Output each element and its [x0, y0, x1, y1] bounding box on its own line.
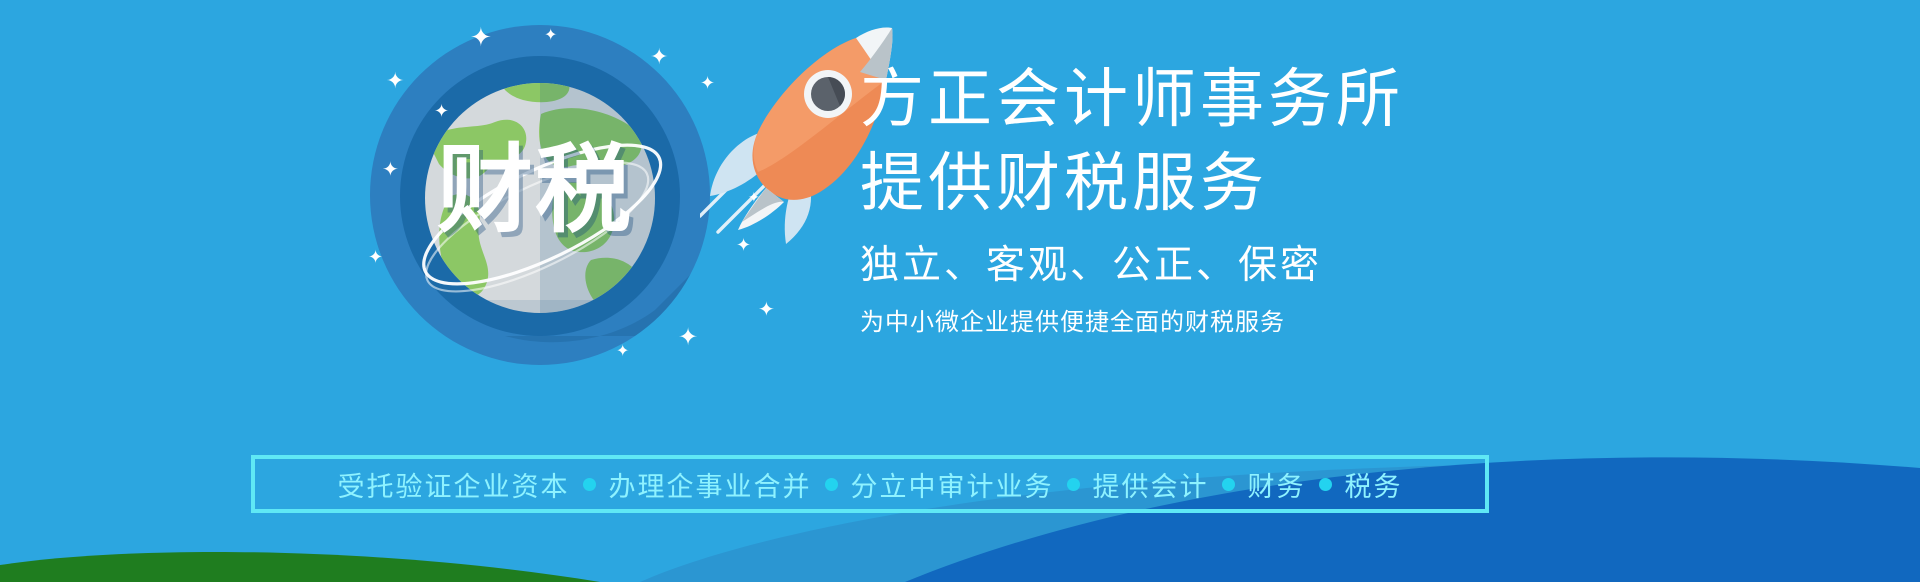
- sparkle-star: ✦: [368, 248, 383, 266]
- sparkle-star: ✦: [616, 344, 629, 360]
- sparkle-star: ✦: [470, 24, 492, 50]
- sparkle-star: ✦: [434, 102, 449, 120]
- services-separator-dot: [1319, 478, 1332, 491]
- headline-line-2: 提供财税服务: [860, 144, 1580, 224]
- tagline: 为中小微企业提供便捷全面的财税服务: [860, 306, 1580, 338]
- services-separator-dot: [1222, 478, 1235, 491]
- headline-line-1: 方正会计师事务所: [860, 60, 1580, 140]
- headline-block: 方正会计师事务所 提供财税服务 独立、客观、公正、保密 为中小微企业提供便捷全面…: [860, 60, 1580, 338]
- subheadline: 独立、客观、公正、保密: [860, 240, 1580, 292]
- services-list: 受托验证企业资本办理企事业合并分立中审计业务提供会计财务税务: [338, 465, 1403, 504]
- globe-graphic: [355, 10, 725, 380]
- service-item: 财务: [1248, 465, 1306, 504]
- sparkle-star: ✦: [544, 28, 557, 44]
- service-item: 税务: [1345, 465, 1403, 504]
- service-item: 提供会计: [1093, 465, 1209, 504]
- services-bar: 受托验证企业资本办理企事业合并分立中审计业务提供会计财务税务: [251, 455, 1489, 513]
- services-separator-dot: [583, 478, 596, 491]
- sparkle-star: ✦: [700, 74, 715, 92]
- sparkle-star: ✦: [736, 236, 751, 254]
- services-separator-dot: [825, 478, 838, 491]
- service-item: 受托验证企业资本: [338, 465, 570, 504]
- service-item: 办理企事业合并: [609, 465, 812, 504]
- sparkle-star: ✦: [386, 70, 404, 92]
- promo-banner: 财税 ✦: [0, 0, 1920, 582]
- sparkle-star: ✦: [748, 190, 760, 204]
- globe-icon: [355, 10, 725, 380]
- sparkle-star: ✦: [382, 160, 399, 180]
- sparkle-star: ✦: [678, 326, 698, 350]
- service-item: 分立中审计业务: [851, 465, 1054, 504]
- sparkle-star: ✦: [758, 300, 775, 320]
- services-separator-dot: [1067, 478, 1080, 491]
- sparkle-star: ✦: [650, 46, 668, 68]
